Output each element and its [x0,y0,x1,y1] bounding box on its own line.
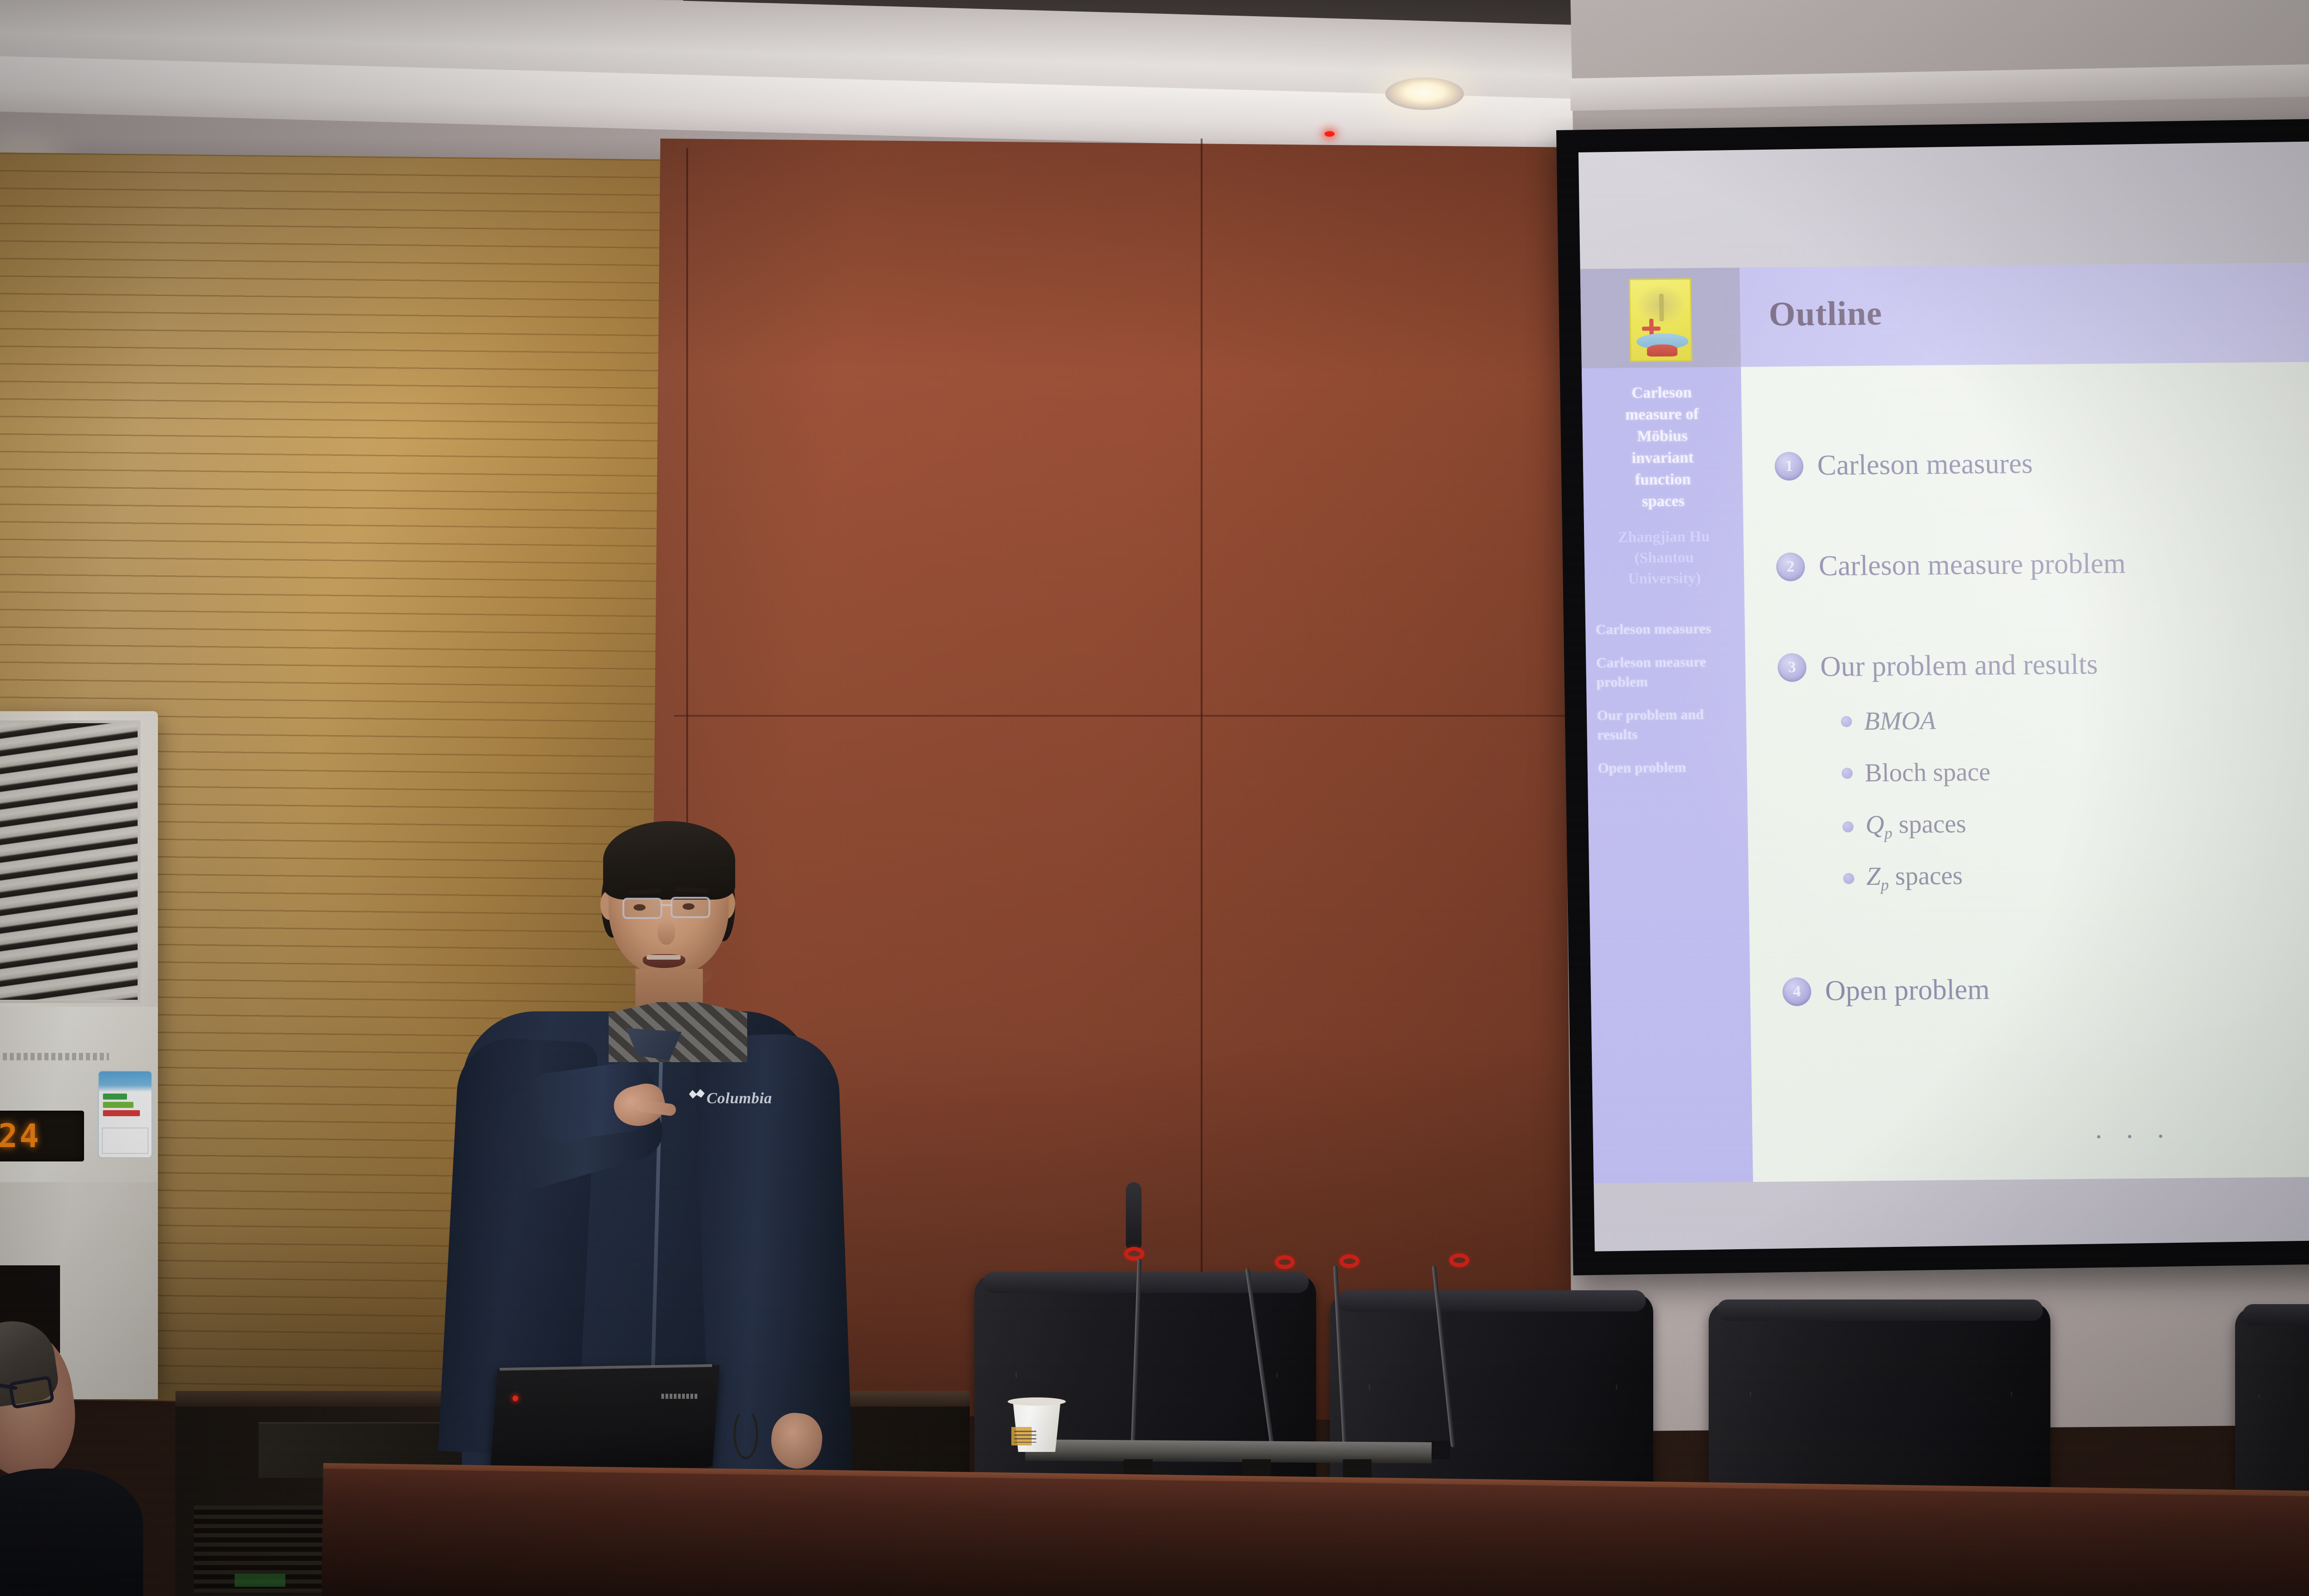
sidebar-heading-line: Möbius [1587,425,1738,448]
projection-screen: Carleson measure of Möbius invariant fun… [1578,140,2309,1251]
laptop[interactable] [490,1365,719,1470]
outline-item-3: 3 Our problem and results [1777,648,2098,684]
slide-sidebar: Carleson measure of Möbius invariant fun… [1580,267,1753,1183]
slide-sidebar-heading: Carleson measure of Möbius invariant fun… [1586,381,1738,513]
sidebar-heading-line: spaces [1588,490,1739,513]
outline-item-label: Our problem and results [1820,648,2098,683]
sidebar-nav-item-our-problem-and-results[interactable]: Our problem and results [1597,704,1744,744]
air-conditioner-grille-frame [0,720,140,1003]
speaker-glasses-icon [623,898,662,919]
university-crest-icon [1629,278,1692,362]
conference-chair-headrest [1717,1300,2043,1321]
speaker-teeth [647,955,681,960]
conference-chair-headrest [1338,1290,1646,1312]
paper-cup-label-text [1014,1431,1036,1443]
sidebar-nav-item-carleson-measures[interactable]: Carleson measures [1596,618,1743,639]
air-conditioner-model-text [3,1053,109,1060]
sidebar-nav-item-carleson-measure-problem[interactable]: Carleson measure problem [1596,652,1743,692]
conference-chair[interactable] [2235,1307,2309,1496]
outline-subitem-zp-spaces: Zp spaces [1843,861,1963,895]
outline-item-2: 2 Carleson measure problem [1776,547,2126,583]
sidebar-author-line: (Shantou [1589,547,1740,569]
conference-chair-headrest [2243,1304,2309,1325]
bullet-dot-icon [1843,873,1854,884]
sidebar-heading-line: Carleson [1586,381,1737,405]
jacket-brand-label: Columbia [707,1090,772,1107]
sidebar-heading-line: invariant [1587,447,1738,470]
bullet-dot-icon [1842,768,1853,779]
outline-item-label: Open problem [1825,973,1989,1008]
air-conditioner-display: 24 [0,1111,84,1161]
microphone-indicator-ring-icon [1124,1247,1144,1261]
sidebar-heading-line: function [1588,468,1738,491]
lecture-hall-photo: Carleson measure of Möbius invariant fun… [0,0,2309,1596]
air-conditioner-temperature-value: 24 [0,1117,41,1155]
outline-item-label: Carleson measures [1817,447,2033,482]
conference-chair[interactable] [1709,1302,2050,1496]
bullet-dot-icon [1843,821,1854,832]
outline-number-badge: 4 [1783,977,1812,1006]
sidebar-heading-line: measure of [1587,403,1737,426]
laptop-power-led-icon [513,1396,518,1401]
outline-subitem-bmoa: BMOA [1841,706,1936,737]
sidebar-author-line: University) [1589,568,1740,590]
outline-subitem-label: Qp spaces [1865,809,1966,843]
microphone-indicator-ring-icon [1339,1254,1360,1268]
speaker-hair [603,821,735,900]
slide-header: Outline [1740,262,2309,367]
microphone-indicator-ring-icon [1275,1255,1295,1269]
slide-sidebar-author: Zhangjian Hu (Shantou University) [1589,526,1740,590]
speaker-glasses-icon [671,897,710,918]
ceiling-downlight-icon [1385,78,1464,110]
presentation-slide: Carleson measure of Möbius invariant fun… [1580,262,2309,1183]
laptop-cable [733,1409,758,1459]
microphone-indicator-ring-icon [1449,1253,1469,1267]
sidebar-author-line: Zhangjian Hu [1589,526,1739,549]
sidebar-nav-item-open-problem[interactable]: Open problem [1597,757,1745,778]
speaker-glasses-bridge [661,904,672,906]
ceiling-indicator-led-icon [1324,131,1335,137]
outline-subitem-label: Zp spaces [1866,861,1963,895]
speaker-nose [658,920,675,945]
outline-number-badge: 2 [1776,552,1805,581]
slide-body: 1 Carleson measures 2 Carleson measure p… [1741,361,2309,1182]
outline-number-badge: 3 [1777,653,1807,682]
audience-member-body [0,1469,143,1596]
outline-item-1: 1 Carleson measures [1775,447,2033,483]
outline-subitem-qp-spaces: Qp spaces [1842,809,1966,843]
slide-ellipsis: · · · [2094,1120,2173,1153]
slide-sidebar-nav: Carleson measures Carleson measure probl… [1596,618,1745,792]
energy-label-sticker [98,1070,152,1158]
outline-subitem-bloch-space: Bloch space [1842,757,1991,788]
microphone-capsule [1126,1182,1142,1251]
outline-subitem-label: BMOA [1864,706,1936,736]
outline-item-4: 4 Open problem [1782,973,1989,1008]
conference-chair-headrest [983,1272,1309,1293]
outline-subitem-label: Bloch space [1865,757,1991,788]
outline-number-badge: 1 [1775,452,1804,481]
bullet-dot-icon [1841,716,1852,727]
slide-title: Outline [1769,294,1883,334]
laptop-brand-logo-icon [661,1394,697,1399]
outline-item-label: Carleson measure problem [1819,547,2126,583]
paper-cup-rim [1008,1397,1066,1406]
table-rail-block [1343,1459,1372,1479]
podium-indicator-strip [235,1574,285,1587]
